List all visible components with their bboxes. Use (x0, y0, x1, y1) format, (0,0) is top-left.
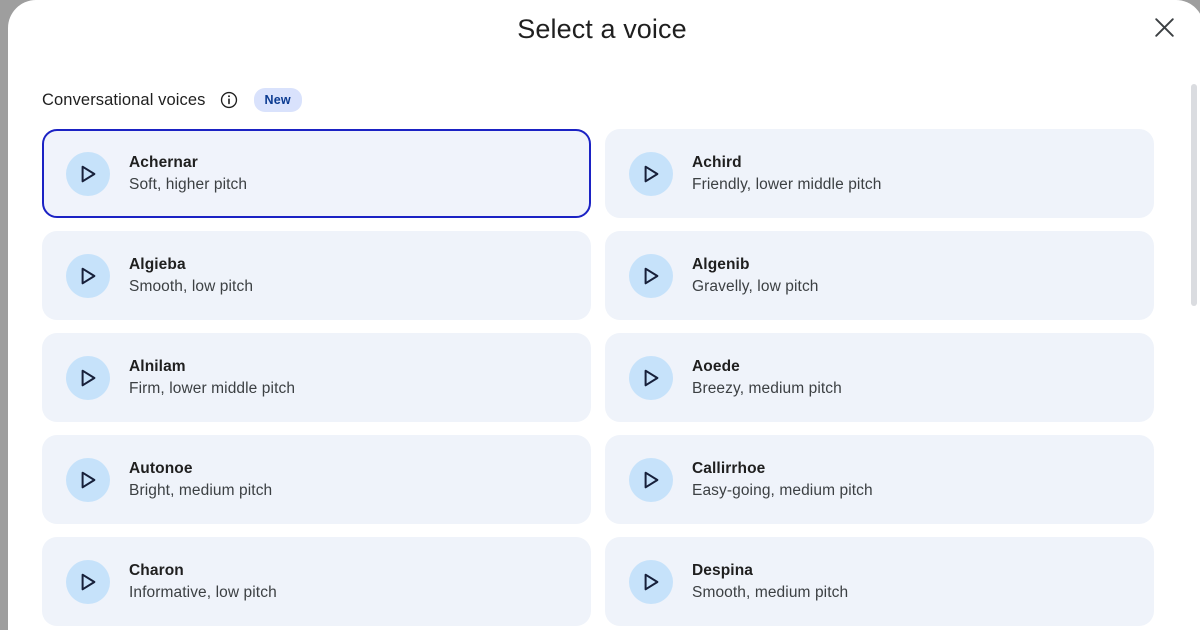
play-button-charon[interactable] (66, 560, 110, 604)
voice-description: Smooth, low pitch (129, 277, 253, 297)
voice-card-autonoe[interactable]: Autonoe Bright, medium pitch (42, 435, 591, 524)
play-icon (643, 267, 660, 285)
voice-name: Autonoe (129, 459, 272, 478)
dialog-header: Select a voice (8, 0, 1200, 60)
voice-description: Breezy, medium pitch (692, 379, 842, 399)
voice-description: Soft, higher pitch (129, 175, 247, 195)
voice-description: Informative, low pitch (129, 583, 277, 603)
play-icon (643, 165, 660, 183)
voice-text: Charon Informative, low pitch (129, 561, 277, 603)
voice-text: Alnilam Firm, lower middle pitch (129, 357, 295, 399)
voice-text: Aoede Breezy, medium pitch (692, 357, 842, 399)
info-icon[interactable] (220, 91, 238, 109)
play-icon (643, 369, 660, 387)
voice-card-achernar[interactable]: Achernar Soft, higher pitch (42, 129, 591, 218)
voice-description: Easy-going, medium pitch (692, 481, 873, 501)
voice-card-charon[interactable]: Charon Informative, low pitch (42, 537, 591, 626)
section-title: Conversational voices (42, 88, 206, 112)
voice-card-algenib[interactable]: Algenib Gravelly, low pitch (605, 231, 1154, 320)
scrollbar-thumb[interactable] (1191, 84, 1197, 306)
voice-description: Gravelly, low pitch (692, 277, 819, 297)
new-badge: New (254, 88, 302, 113)
play-button-despina[interactable] (629, 560, 673, 604)
play-button-alnilam[interactable] (66, 356, 110, 400)
play-icon (80, 165, 97, 183)
voice-description: Friendly, lower middle pitch (692, 175, 881, 195)
play-button-algenib[interactable] (629, 254, 673, 298)
close-icon (1154, 17, 1175, 38)
play-icon (80, 267, 97, 285)
play-button-algieba[interactable] (66, 254, 110, 298)
screen: Select a voice Conversational voices New (0, 0, 1200, 630)
voice-grid: Achernar Soft, higher pitch Achird Frien… (42, 129, 1154, 626)
voice-text: Achird Friendly, lower middle pitch (692, 153, 881, 195)
voice-card-achird[interactable]: Achird Friendly, lower middle pitch (605, 129, 1154, 218)
voice-text: Algieba Smooth, low pitch (129, 255, 253, 297)
voice-name: Algieba (129, 255, 253, 274)
play-button-achernar[interactable] (66, 152, 110, 196)
play-button-autonoe[interactable] (66, 458, 110, 502)
voice-text: Despina Smooth, medium pitch (692, 561, 848, 603)
voice-text: Autonoe Bright, medium pitch (129, 459, 272, 501)
play-icon (643, 573, 660, 591)
play-icon (80, 369, 97, 387)
voice-name: Callirrhoe (692, 459, 873, 478)
vertical-scrollbar[interactable] (1189, 70, 1199, 630)
voice-name: Aoede (692, 357, 842, 376)
voice-text: Achernar Soft, higher pitch (129, 153, 247, 195)
section-heading-row: Conversational voices New (42, 88, 1200, 112)
voice-name: Alnilam (129, 357, 295, 376)
voice-description: Smooth, medium pitch (692, 583, 848, 603)
page-title: Select a voice (8, 12, 1200, 46)
select-voice-dialog: Select a voice Conversational voices New (8, 0, 1200, 630)
voice-name: Charon (129, 561, 277, 580)
voice-card-aoede[interactable]: Aoede Breezy, medium pitch (605, 333, 1154, 422)
play-button-aoede[interactable] (629, 356, 673, 400)
voice-name: Despina (692, 561, 848, 580)
voice-description: Firm, lower middle pitch (129, 379, 295, 399)
play-button-callirrhoe[interactable] (629, 458, 673, 502)
close-button[interactable] (1145, 8, 1183, 46)
voice-name: Achird (692, 153, 881, 172)
play-icon (80, 471, 97, 489)
voice-card-alnilam[interactable]: Alnilam Firm, lower middle pitch (42, 333, 591, 422)
voice-text: Callirrhoe Easy-going, medium pitch (692, 459, 873, 501)
voice-card-despina[interactable]: Despina Smooth, medium pitch (605, 537, 1154, 626)
voice-name: Algenib (692, 255, 819, 274)
voice-text: Algenib Gravelly, low pitch (692, 255, 819, 297)
voice-name: Achernar (129, 153, 247, 172)
voice-card-callirrhoe[interactable]: Callirrhoe Easy-going, medium pitch (605, 435, 1154, 524)
play-button-achird[interactable] (629, 152, 673, 196)
play-icon (643, 471, 660, 489)
voice-description: Bright, medium pitch (129, 481, 272, 501)
play-icon (80, 573, 97, 591)
voice-card-algieba[interactable]: Algieba Smooth, low pitch (42, 231, 591, 320)
